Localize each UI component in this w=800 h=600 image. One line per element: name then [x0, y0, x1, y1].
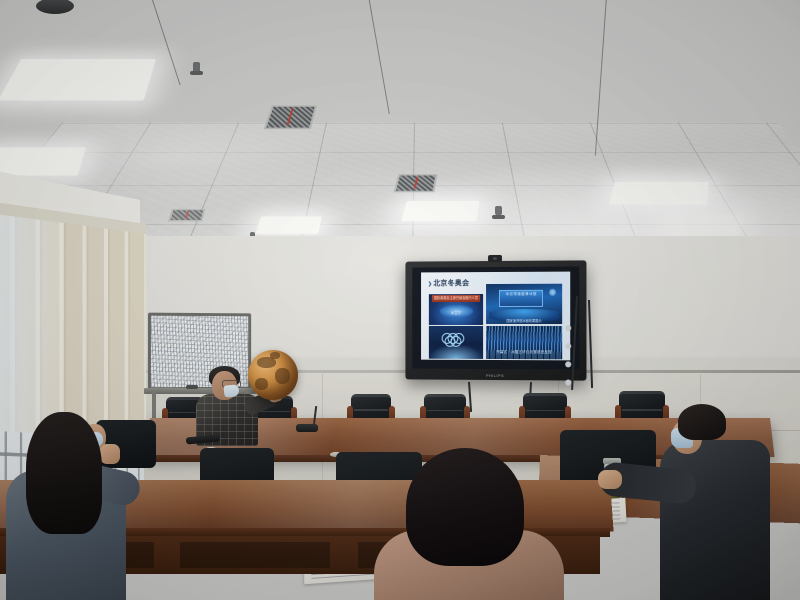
- slide-image-badge: 国际奥委会主席巴赫及随行人员: [432, 295, 480, 302]
- slide-light-streaks: [486, 326, 562, 359]
- olympic-rings-icon: [441, 333, 471, 343]
- hvac-diffuser: [394, 174, 438, 192]
- attendee-right-torso: [660, 440, 770, 600]
- display-brand-logo: PHILIPS: [481, 373, 509, 378]
- hvac-diffuser: [168, 209, 206, 222]
- whiteboard-marker[interactable]: [186, 385, 198, 389]
- slide-image-caption: 冰立方: [429, 310, 483, 315]
- display-key-3[interactable]: [565, 361, 571, 367]
- conference-room-photo: 北京冬奥会 国际奥委会主席巴赫及随行人员 冰立方 冰丝带速度滑冰馆 国家速滑馆冰…: [0, 0, 800, 600]
- display-camera-icon: [488, 255, 502, 262]
- microphone-base[interactable]: [296, 424, 318, 432]
- slide-image-olympic-rings: [429, 326, 483, 359]
- attendee-left-hand: [100, 444, 120, 464]
- slide-inner-screen: 冰丝带速度滑冰馆: [499, 289, 544, 306]
- slide-badge-text: 国际奥委会主席巴赫及随行人员: [432, 295, 480, 302]
- ceiling-grid-wire: [368, 0, 390, 114]
- globe-prop[interactable]: [248, 350, 298, 400]
- slide-image-venue-banner: 国际奥委会主席巴赫及随行人员 冰立方: [429, 294, 483, 325]
- apron-panel: [180, 542, 330, 568]
- led-panel-light: [255, 216, 322, 233]
- attendee-right-hair: [678, 404, 726, 440]
- globe-landmass: [275, 368, 290, 384]
- hvac-diffuser: [264, 105, 317, 129]
- slide-ice-floor: 国家速滑馆冰面效果展示: [489, 309, 559, 323]
- sprinkler-head: [193, 62, 200, 75]
- led-panel-light: [609, 182, 709, 205]
- attendee-foreground-hair: [406, 448, 524, 566]
- slide-screen-text: 冰丝带速度滑冰馆: [500, 290, 543, 297]
- presentation-slide: 北京冬奥会 国际奥委会主席巴赫及随行人员 冰立方 冰丝带速度滑冰馆 国家速滑馆冰…: [421, 272, 570, 361]
- smoke-detector: [36, 0, 74, 14]
- slide-title: 北京冬奥会: [428, 278, 469, 288]
- slide-image-light-show: 开幕式 · 冰雪五环灯光秀视觉呈现: [486, 326, 562, 359]
- ceiling-grid-wire: [150, 0, 181, 85]
- slide-lightshow-caption: 开幕式 · 冰雪五环灯光秀视觉呈现: [486, 349, 562, 354]
- slide-image-ice-stage: 冰丝带速度滑冰馆 国家速滑馆冰面效果展示: [486, 284, 562, 324]
- slide-floor-text: 国家速滑馆冰面效果展示: [489, 309, 559, 323]
- slide-light-orb: [549, 289, 556, 296]
- attendee-right-hand: [598, 470, 622, 489]
- display-key-1[interactable]: [565, 325, 571, 331]
- display-key-2[interactable]: [565, 343, 571, 349]
- slide-rings-glow: [429, 344, 483, 359]
- interactive-display[interactable]: 北京冬奥会 国际奥委会主席巴赫及随行人员 冰立方 冰丝带速度滑冰馆 国家速滑馆冰…: [405, 260, 586, 380]
- led-panel-light: [0, 147, 86, 175]
- led-panel-light: [0, 59, 156, 101]
- led-panel-light: [664, 214, 742, 236]
- sprinkler-head: [495, 206, 502, 215]
- globe-landmass: [255, 378, 268, 390]
- display-screen[interactable]: 北京冬奥会 国际奥委会主席巴赫及随行人员 冰立方 冰丝带速度滑冰馆 国家速滑馆冰…: [412, 266, 579, 369]
- led-panel-light: [401, 201, 479, 221]
- attendee-left-hair: [26, 412, 102, 534]
- globe-landmass: [270, 352, 280, 359]
